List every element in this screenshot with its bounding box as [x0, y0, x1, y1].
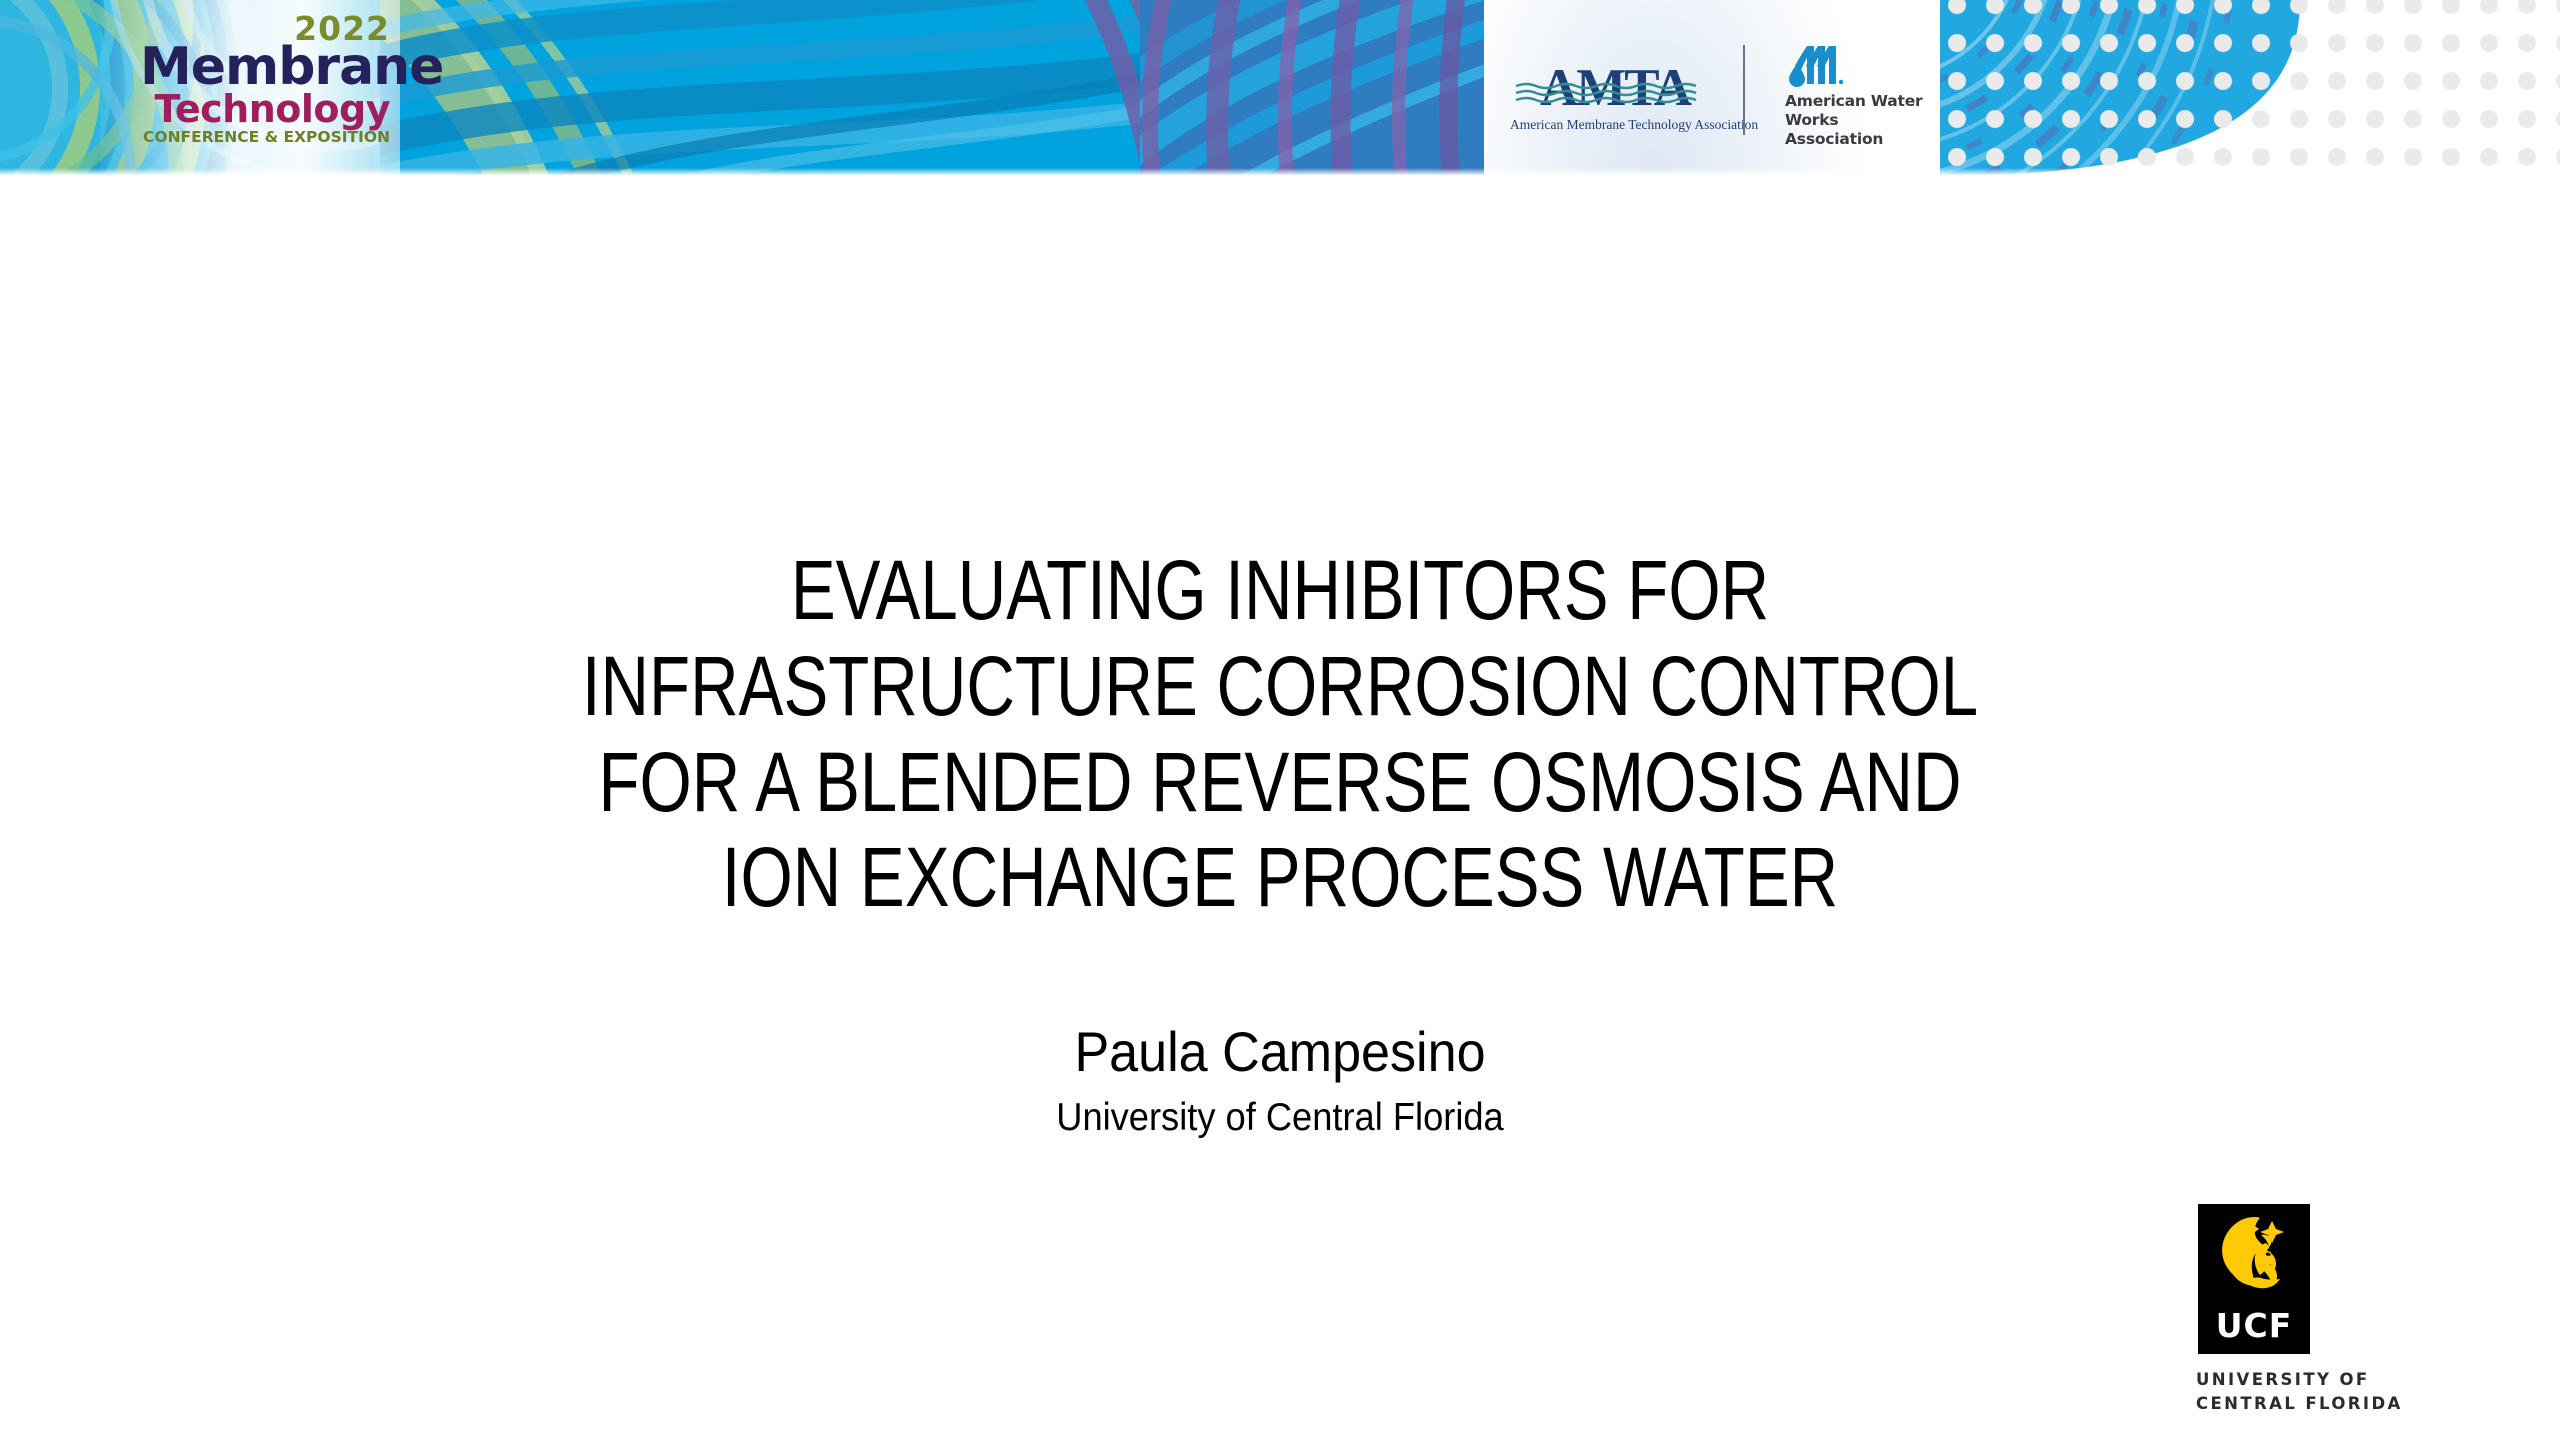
awwa-name: American Water Works Association — [1785, 92, 1935, 149]
amta-acronym-wrap: AMTA — [1510, 62, 1720, 115]
amta-acronym-text: AMTA — [1540, 59, 1690, 117]
presentation-title-slide: 2022 Membrane Technology CONFERENCE & EX… — [0, 0, 2560, 1440]
amta-full-name: American Membrane Technology Association — [1510, 117, 1720, 133]
page-title: EVALUATING INHIBITORS FOR INFRASTRUCTURE… — [0, 543, 2560, 926]
logo-technology-word: Technology — [140, 90, 390, 128]
banner-middle-wave-graphic — [380, 0, 1180, 176]
logo-membrane-word: Membrane — [140, 43, 390, 92]
title-line-3: FOR A BLENDED REVERSE OSMOSIS AND — [256, 735, 2304, 831]
logo-divider — [1743, 45, 1745, 135]
presenter-name: Paula Campesino — [90, 1023, 2471, 1082]
presenter-affiliation: University of Central Florida — [90, 1098, 2471, 1139]
ucf-name-line2: CENTRAL FLORIDA — [2196, 1392, 2446, 1416]
pegasus-icon — [2210, 1213, 2298, 1305]
banner-purple-crosshatch-graphic — [1140, 0, 1490, 176]
banner-right-graphic — [1940, 0, 2560, 176]
wave-curves-svg — [380, 0, 1180, 176]
crosshatch-svg — [1140, 0, 1490, 176]
ucf-logo: UCF UNIVERSITY OF CENTRAL FLORIDA — [2196, 1204, 2446, 1416]
ucf-letters: UCF — [2198, 1309, 2310, 1342]
awwa-droplet-m-icon — [1785, 44, 1849, 88]
dot-pattern — [1940, 0, 2560, 176]
awwa-mark-icon — [1785, 44, 1849, 88]
awwa-name-line2: Association — [1785, 130, 1935, 149]
awwa-name-line1: American Water Works — [1785, 92, 1935, 130]
title-line-4: ION EXCHANGE PROCESS WATER — [256, 830, 2304, 926]
ucf-university-name: UNIVERSITY OF CENTRAL FLORIDA — [2196, 1368, 2446, 1416]
ucf-badge: UCF — [2198, 1204, 2310, 1354]
title-line-1: EVALUATING INHIBITORS FOR — [256, 543, 2304, 639]
awwa-logo: American Water Works Association — [1785, 44, 1935, 149]
logo-tagline: CONFERENCE & EXPOSITION — [140, 129, 390, 146]
amta-logo: AMTA American Membrane Technology Associ… — [1510, 62, 1720, 133]
header-banner: 2022 Membrane Technology CONFERENCE & EX… — [0, 0, 2560, 176]
ucf-name-line1: UNIVERSITY OF — [2196, 1368, 2446, 1392]
membrane-technology-conference-logo: 2022 Membrane Technology CONFERENCE & EX… — [140, 12, 390, 146]
title-line-2: INFRASTRUCTURE CORROSION CONTROL — [256, 639, 2304, 735]
